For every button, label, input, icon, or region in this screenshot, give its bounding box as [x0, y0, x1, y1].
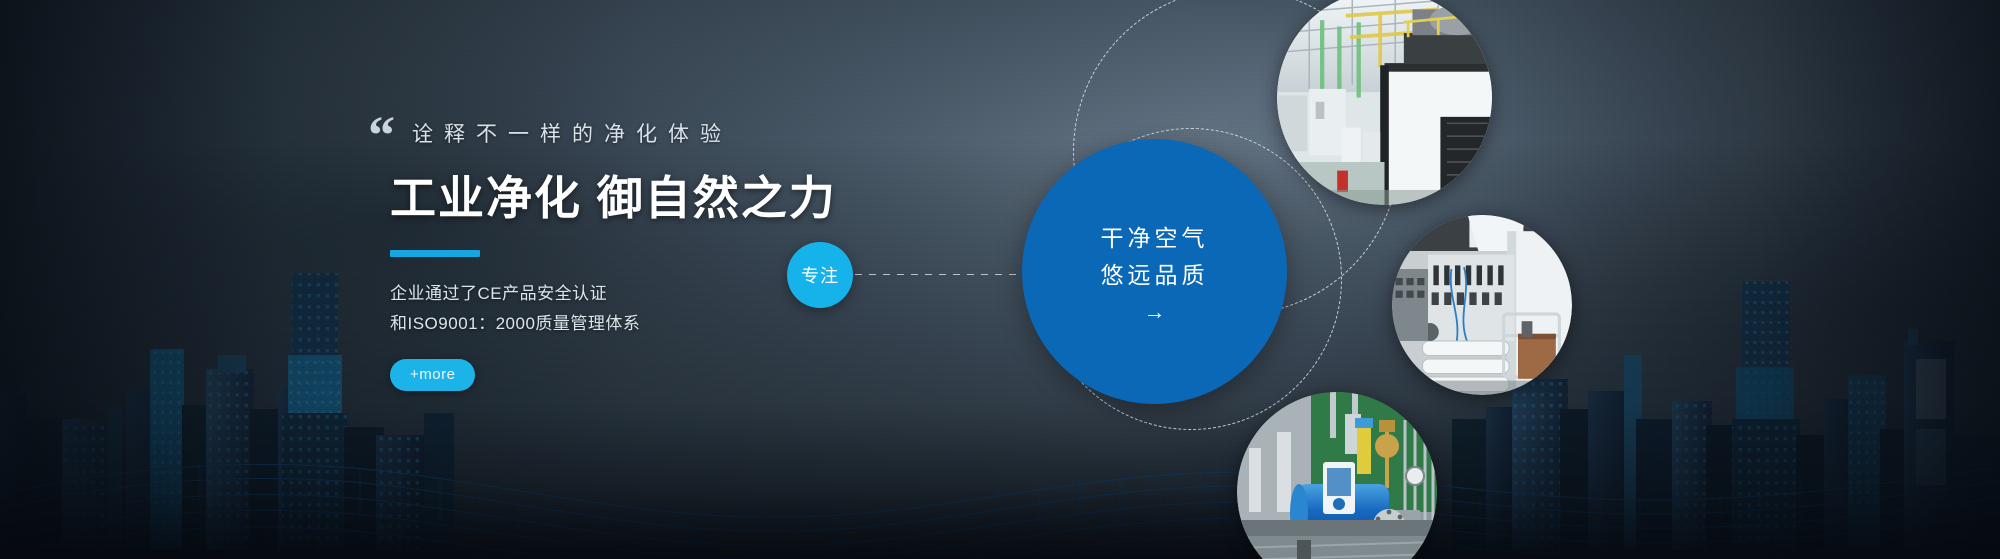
more-button[interactable]: +more — [390, 359, 475, 391]
hero-headline: 工业净化 御自然之力 — [390, 162, 920, 228]
hero-copy-block: “ 诠释不一样的净化体验 工业净化 御自然之力 企业通过了CE产品安全认证 和I… — [360, 96, 920, 391]
slogan-line-2: 悠远品质 — [1101, 257, 1209, 294]
hero-tagline: 诠释不一样的净化体验 — [412, 118, 920, 148]
background-noise-texture — [0, 0, 2000, 559]
arrow-right-icon[interactable]: → — [1144, 301, 1166, 323]
accent-rule — [390, 250, 480, 257]
main-slogan-circle[interactable]: 干净空气 悠远品质 → — [1022, 139, 1287, 404]
photo-industrial-plant-interior — [1277, 0, 1492, 205]
hero-body-text: 企业通过了CE产品安全认证 和ISO9001：2000质量管理体系 — [390, 279, 920, 339]
quote-mark-icon: “ — [368, 108, 393, 162]
slogan-line-1: 干净空气 — [1101, 220, 1209, 257]
body-line-1: 企业通过了CE产品安全认证 — [390, 279, 920, 309]
photo-textile-machinery-line — [1392, 215, 1572, 395]
body-line-2: 和ISO9001：2000质量管理体系 — [390, 309, 920, 339]
hero-banner: 专注 干净空气 悠远品质 → “ 诠释不一样的净化体验 工业净化 御自然之力 企… — [0, 0, 2000, 559]
